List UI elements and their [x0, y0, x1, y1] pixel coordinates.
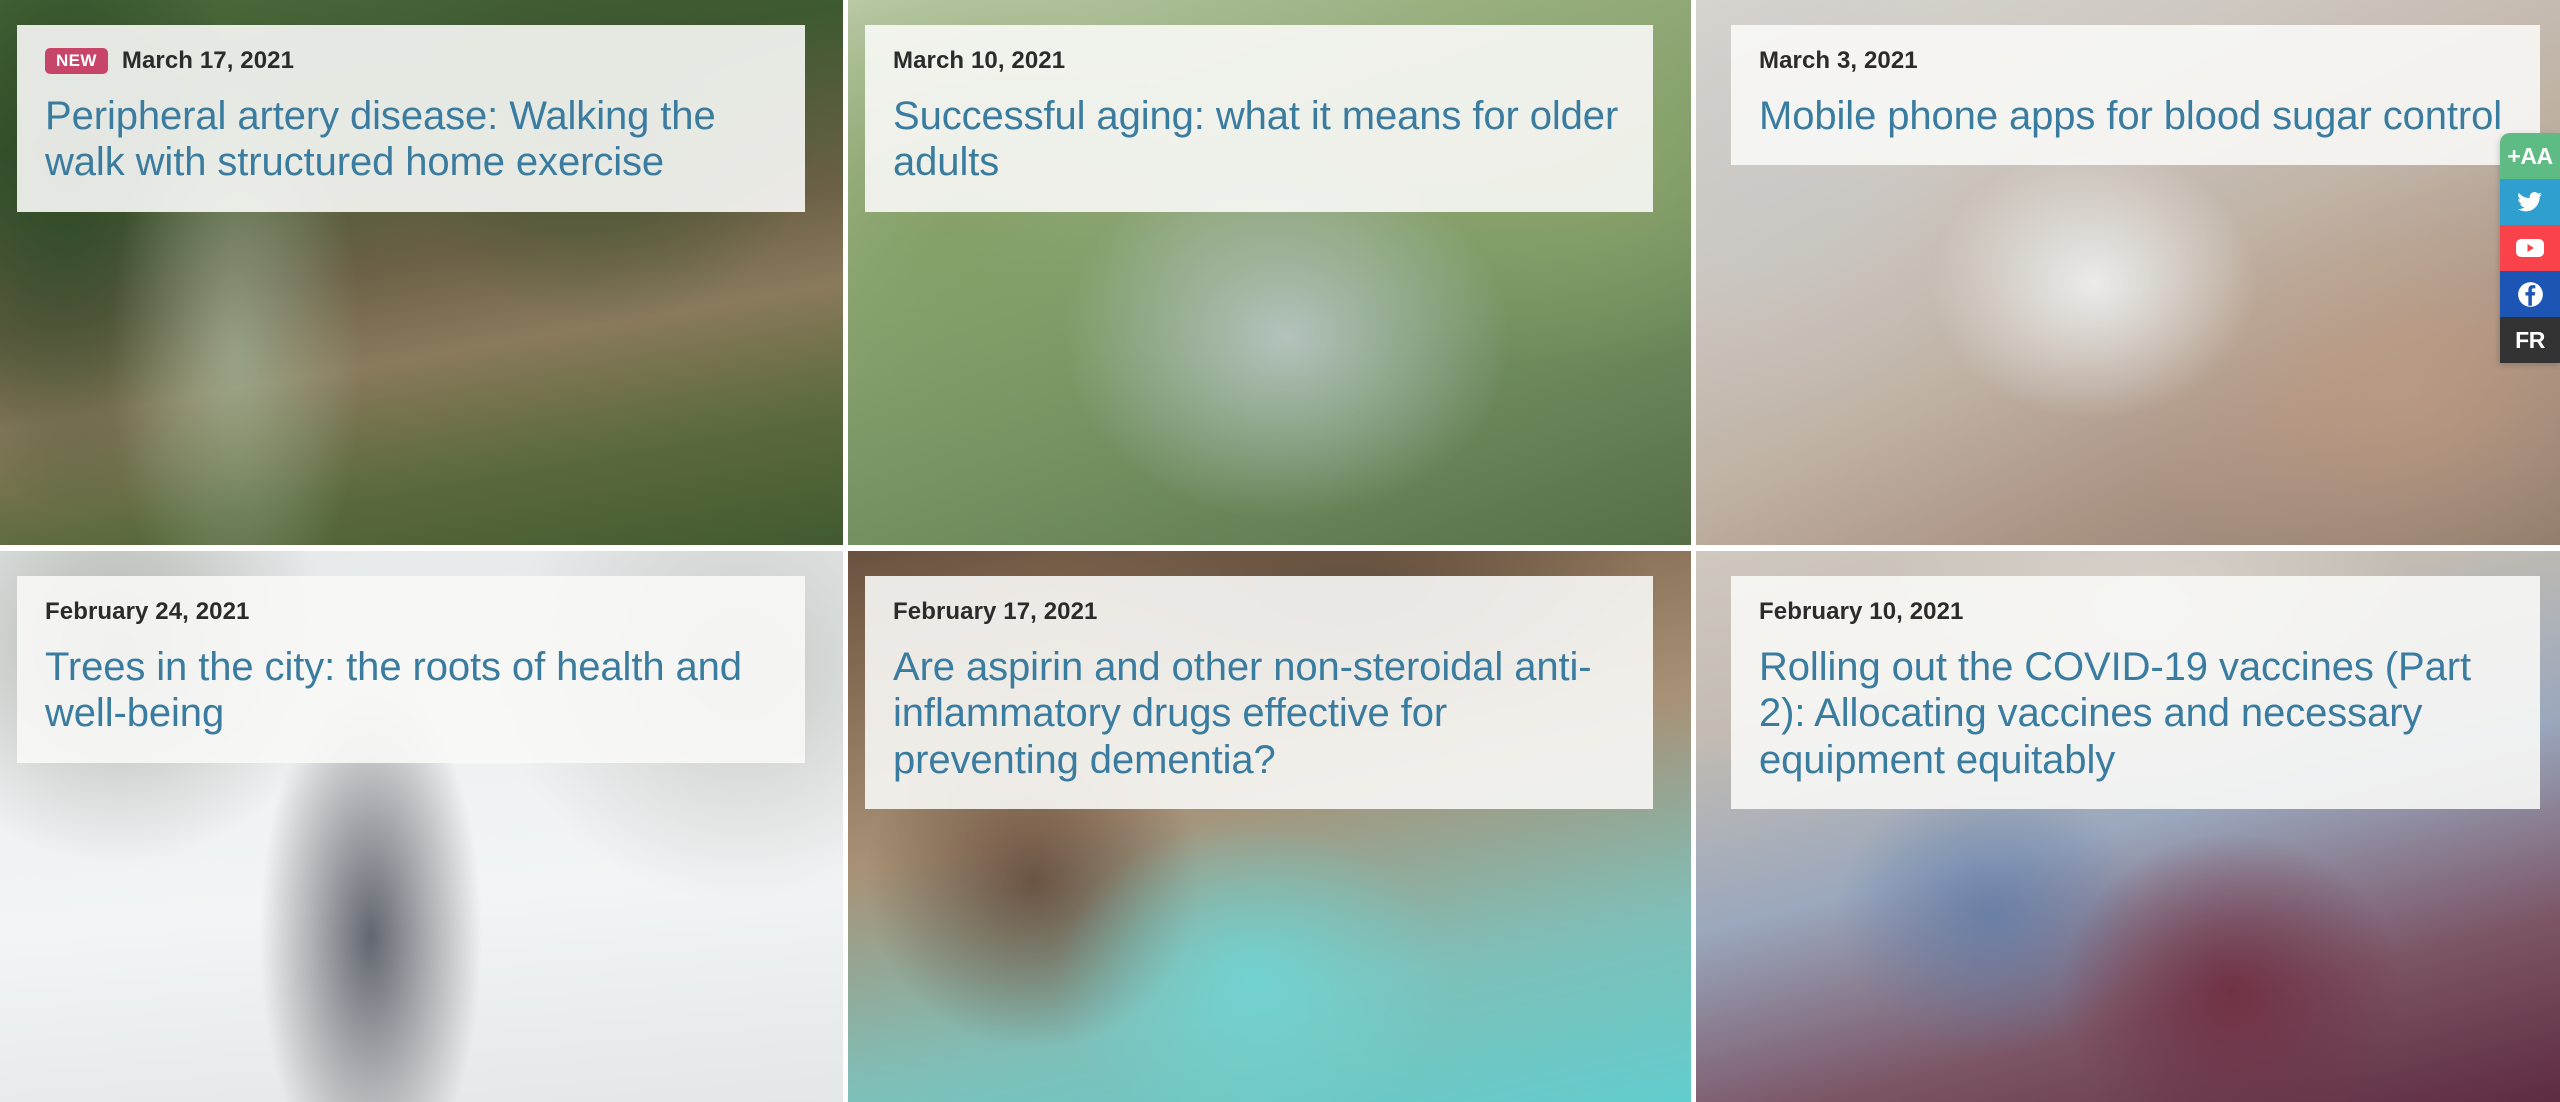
- article-meta: March 10, 2021: [893, 47, 1625, 75]
- article-card[interactable]: February 10, 2021 Rolling out the COVID-…: [1696, 551, 2560, 1102]
- article-card-panel: February 24, 2021 Trees in the city: the…: [17, 576, 805, 763]
- article-title-link[interactable]: Peripheral artery disease: Walking the w…: [45, 93, 777, 186]
- article-title-link[interactable]: Trees in the city: the roots of health a…: [45, 644, 777, 737]
- article-card-panel: February 17, 2021 Are aspirin and other …: [865, 576, 1653, 809]
- article-meta: March 3, 2021: [1759, 47, 2512, 75]
- article-card-panel: March 10, 2021 Successful aging: what it…: [865, 25, 1653, 212]
- article-title-link[interactable]: Are aspirin and other non-steroidal anti…: [893, 644, 1625, 783]
- article-meta: February 10, 2021: [1759, 598, 2512, 626]
- article-card[interactable]: March 3, 2021 Mobile phone apps for bloo…: [1696, 0, 2560, 545]
- facebook-icon: [2517, 281, 2544, 308]
- language-toggle-icon: FR: [2515, 327, 2545, 354]
- article-card[interactable]: February 17, 2021 Are aspirin and other …: [848, 551, 1691, 1102]
- article-meta: February 17, 2021: [893, 598, 1625, 626]
- article-date: March 17, 2021: [122, 47, 294, 75]
- article-card[interactable]: NEW March 17, 2021 Peripheral artery dis…: [0, 0, 843, 545]
- language-toggle-button[interactable]: FR: [2500, 317, 2560, 363]
- article-title-link[interactable]: Rolling out the COVID-19 vaccines (Part …: [1759, 644, 2512, 783]
- text-resize-button[interactable]: +AA: [2500, 133, 2560, 179]
- youtube-link[interactable]: [2500, 225, 2560, 271]
- article-card[interactable]: March 10, 2021 Successful aging: what it…: [848, 0, 1691, 545]
- article-card-grid: NEW March 17, 2021 Peripheral artery dis…: [0, 0, 2560, 1102]
- facebook-link[interactable]: [2500, 271, 2560, 317]
- article-meta: NEW March 17, 2021: [45, 47, 777, 75]
- article-date: February 10, 2021: [1759, 598, 1964, 626]
- article-card-panel: March 3, 2021 Mobile phone apps for bloo…: [1731, 25, 2540, 165]
- article-meta: February 24, 2021: [45, 598, 777, 626]
- text-resize-icon: +AA: [2507, 143, 2552, 170]
- article-card-panel: February 10, 2021 Rolling out the COVID-…: [1731, 576, 2540, 809]
- article-date: February 24, 2021: [45, 598, 250, 626]
- article-date: March 10, 2021: [893, 47, 1065, 75]
- page-root: NEW March 17, 2021 Peripheral artery dis…: [0, 0, 2560, 1102]
- article-date: March 3, 2021: [1759, 47, 1918, 75]
- youtube-icon: [2515, 237, 2545, 259]
- twitter-icon: [2517, 189, 2543, 215]
- article-date: February 17, 2021: [893, 598, 1098, 626]
- article-card[interactable]: February 24, 2021 Trees in the city: the…: [0, 551, 843, 1102]
- article-card-panel: NEW March 17, 2021 Peripheral artery dis…: [17, 25, 805, 212]
- article-title-link[interactable]: Successful aging: what it means for olde…: [893, 93, 1625, 186]
- twitter-link[interactable]: [2500, 179, 2560, 225]
- social-sidebar-rail: +AA: [2500, 133, 2560, 363]
- new-badge: NEW: [45, 48, 108, 74]
- article-title-link[interactable]: Mobile phone apps for blood sugar contro…: [1759, 93, 2512, 139]
